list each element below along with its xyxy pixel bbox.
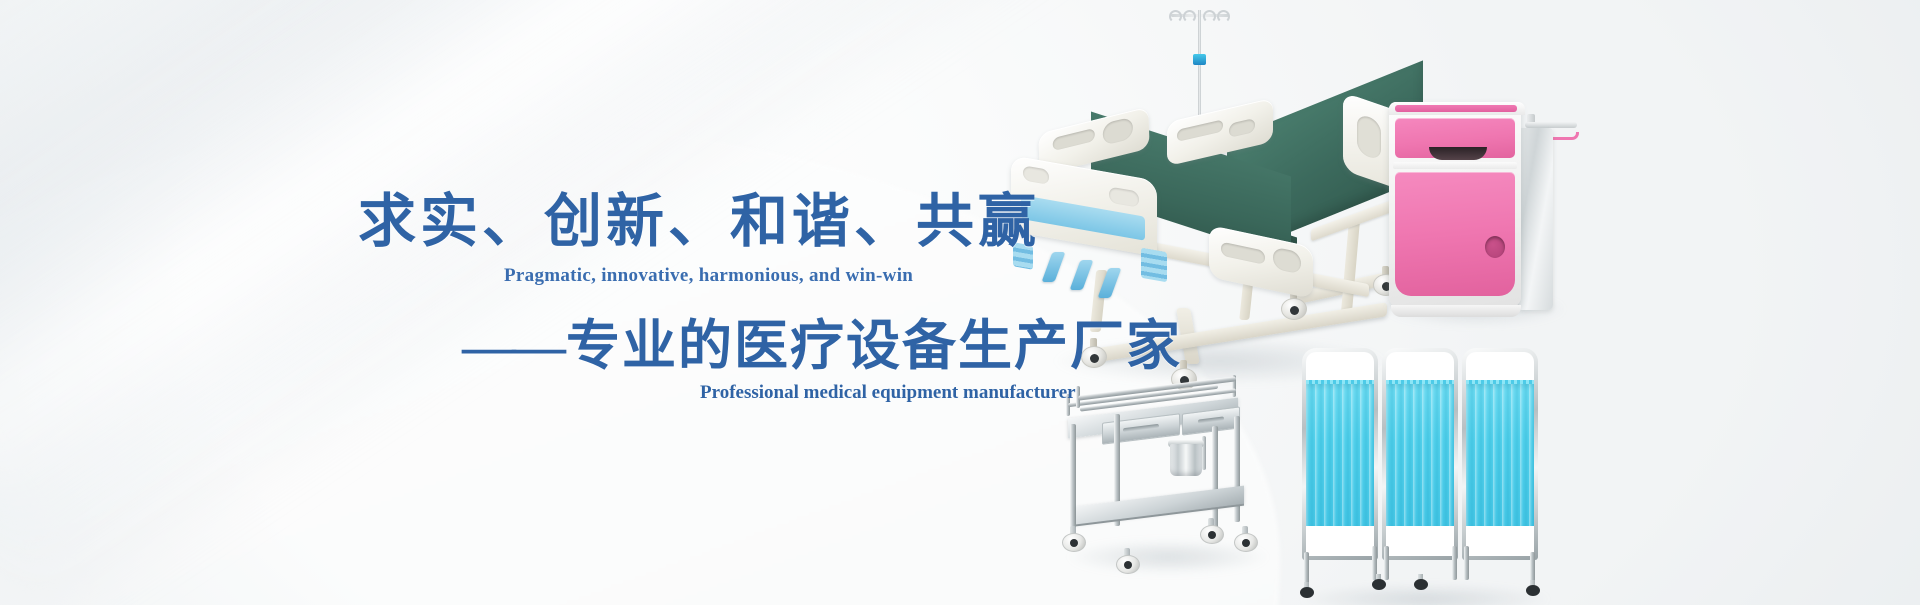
cabinet-base [1391, 305, 1521, 317]
subline-english: Professional medical equipment manufactu… [700, 383, 1076, 402]
iv-hook-icon [1217, 10, 1230, 23]
cabinet-door-handle [1485, 236, 1505, 258]
iv-hook-icon [1169, 10, 1182, 23]
screen-panel-1 [1302, 348, 1378, 560]
trolley-caster [1200, 518, 1224, 544]
product-privacy-screen [1300, 348, 1560, 598]
screen-caster [1414, 574, 1428, 590]
subline-chinese-text: 专业的医疗设备生产厂家 [566, 316, 1182, 376]
background-vignette [0, 0, 1920, 605]
cabinet-door [1395, 172, 1515, 296]
iv-hook-icon [1203, 10, 1216, 23]
screen-foot [1304, 552, 1309, 586]
iv-pole-clamp [1193, 54, 1206, 65]
screen-curtain [1386, 384, 1454, 526]
rail-grip [1102, 116, 1133, 145]
product-medical-trolley [1058, 378, 1278, 600]
screen-caster [1526, 580, 1540, 596]
iv-pole [1198, 10, 1201, 122]
em-dash-prefix: —— [462, 316, 562, 376]
footboard-grip [1023, 165, 1049, 185]
screen-curtain [1306, 384, 1374, 526]
rail-slot [1177, 119, 1223, 142]
trolley-caster [1062, 526, 1086, 552]
hero-banner: 求实、创新、和谐、共赢 Pragmatic, innovative, harmo… [0, 0, 1920, 605]
iv-hook-icon [1183, 10, 1196, 23]
cabinet-drawer [1395, 118, 1515, 158]
trolley-drawer-handle [1198, 416, 1225, 423]
screen-foot [1452, 546, 1457, 580]
bed-crank-handle [1070, 260, 1094, 290]
trolley-caster [1234, 526, 1258, 552]
footboard-grip [1109, 186, 1139, 207]
cabinet-drawer-handle [1429, 147, 1487, 160]
rail-grip [1229, 118, 1255, 138]
subline-chinese: ——专业的医疗设备生产厂家 [462, 319, 1182, 373]
headboard-slot [1357, 113, 1381, 161]
product-bedside-cabinet [1385, 92, 1590, 317]
rail-slot [1221, 241, 1265, 264]
trolley-drawer-handle [1123, 424, 1159, 432]
cabinet-side-panel [1519, 128, 1553, 310]
trolley-bucket [1170, 444, 1202, 476]
bed-leg-right [1341, 218, 1360, 314]
headline-chinese: 求实、创新、和谐、共赢 [358, 193, 1040, 251]
screen-curtain [1466, 384, 1534, 526]
screen-foot [1464, 546, 1469, 580]
bed-side-rail-near [1209, 225, 1313, 299]
bed-crank-block [1141, 248, 1167, 283]
screen-caster [1372, 574, 1386, 590]
trolley-caster [1116, 548, 1140, 574]
cabinet-top-pink-inlay [1395, 105, 1517, 112]
bed-crank-handle [1042, 252, 1066, 282]
headline-english: Pragmatic, innovative, harmonious, and w… [504, 266, 913, 285]
screen-panel-3 [1462, 348, 1538, 560]
rail-slot [1053, 128, 1095, 151]
screen-caster [1300, 582, 1314, 598]
screen-panel-2 [1382, 348, 1458, 560]
trolley-leg [1212, 426, 1218, 532]
cabinet-divider [1393, 162, 1517, 169]
rail-grip [1273, 247, 1301, 275]
